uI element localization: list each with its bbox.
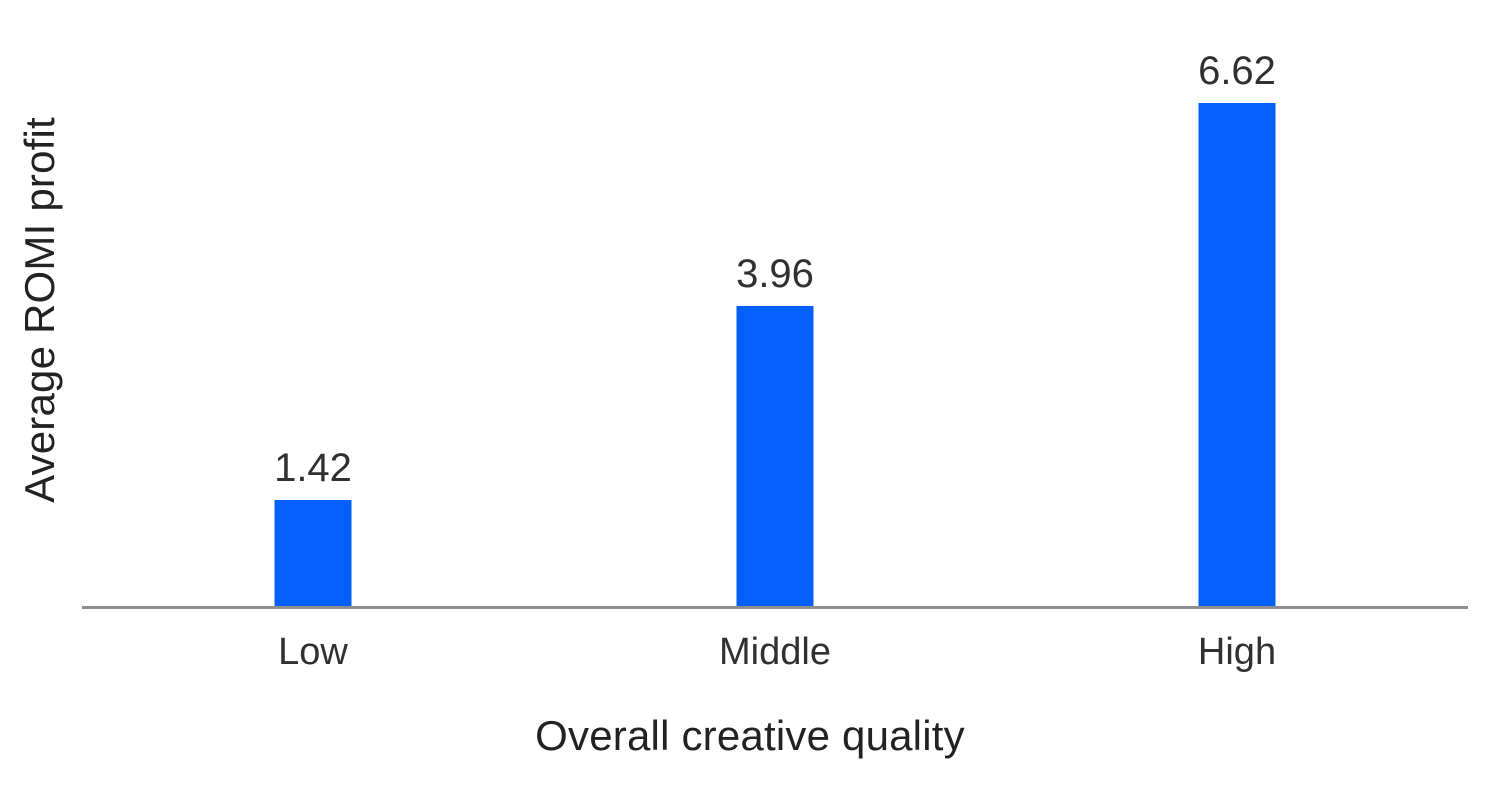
bar-chart: Average ROMI profit 1.42 3.96 6.62 Low M… bbox=[0, 0, 1500, 800]
x-axis-title: Overall creative quality bbox=[0, 712, 1500, 760]
bars-layer: 1.42 3.96 6.62 bbox=[82, 0, 1468, 608]
bar-value-label-low: 1.42 bbox=[274, 448, 352, 488]
x-tick-label-middle: Middle bbox=[719, 630, 831, 676]
bar-group-high: 6.62 bbox=[1006, 0, 1468, 608]
bar-value-label-high: 6.62 bbox=[1198, 51, 1276, 91]
bar-group-middle: 3.96 bbox=[544, 0, 1006, 608]
bar-group-low: 1.42 bbox=[82, 0, 544, 608]
x-tick-label-low: Low bbox=[278, 630, 348, 676]
y-axis-title: Average ROMI profit bbox=[8, 0, 72, 620]
bar-high[interactable]: 6.62 bbox=[1199, 103, 1276, 608]
x-axis-line bbox=[82, 606, 1468, 609]
bar-low[interactable]: 1.42 bbox=[275, 500, 352, 608]
bar-value-label-middle: 3.96 bbox=[736, 254, 814, 294]
x-axis-tick-labels: Low Middle High bbox=[82, 630, 1468, 690]
x-tick-label-high: High bbox=[1198, 630, 1276, 676]
bar-middle[interactable]: 3.96 bbox=[737, 306, 814, 608]
